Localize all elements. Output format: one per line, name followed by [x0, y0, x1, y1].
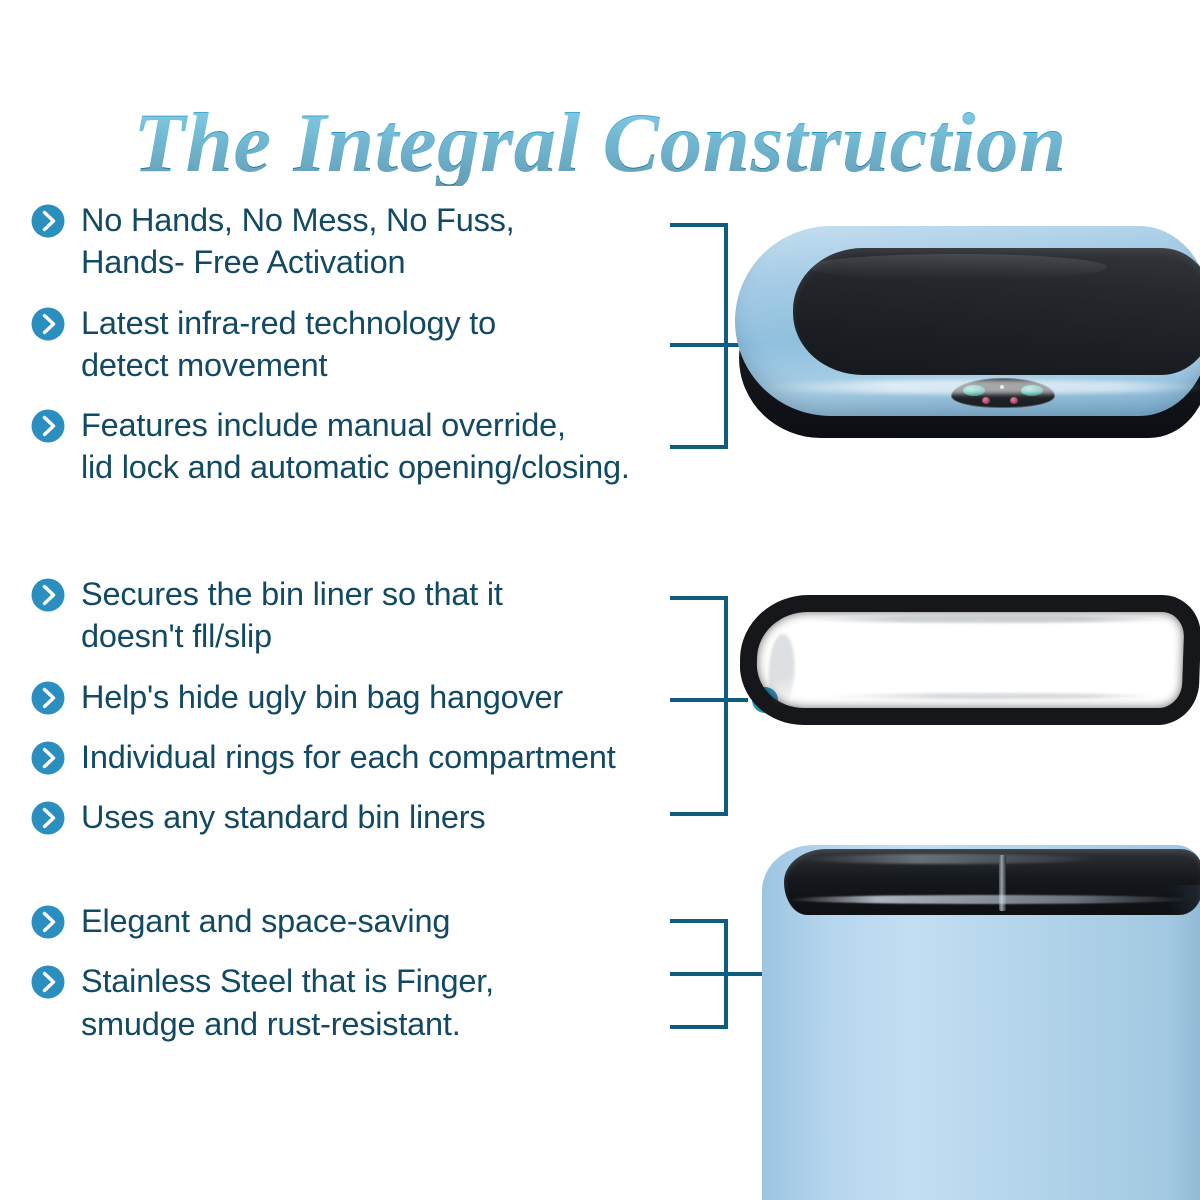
- list-item: Help's hide ugly bin bag hangover: [30, 676, 616, 718]
- list-item-label: No Hands, No Mess, No Fuss, Hands- Free …: [81, 199, 515, 284]
- list-item-label: Latest infra-red technology to detect mo…: [81, 302, 496, 387]
- list-item-label: Elegant and space-saving: [81, 900, 450, 942]
- ring-highlight-left: [767, 634, 796, 706]
- list-item: Uses any standard bin liners: [30, 796, 616, 838]
- list-item: Features include manual override, lid lo…: [30, 404, 630, 489]
- chevron-circle-icon: [30, 680, 66, 716]
- list-item-label: Features include manual override, lid lo…: [81, 404, 630, 489]
- lid-outer-shell: [735, 226, 1200, 416]
- chevron-circle-icon: [30, 306, 66, 342]
- chevron-circle-icon: [30, 203, 66, 239]
- bin-edge-shadow: [1168, 885, 1200, 1200]
- page-title: The Integral Construction: [133, 101, 1067, 186]
- list-item-label: Stainless Steel that is Finger, smudge a…: [81, 960, 494, 1045]
- ring-highlight-bottom: [826, 693, 1156, 699]
- ring-highlight-top: [810, 616, 1170, 623]
- bin-outer-shell: [762, 845, 1200, 1200]
- sensor-eye-right-icon: [1021, 385, 1043, 396]
- liner-retaining-ring: [740, 595, 1200, 725]
- list-item-label: Individual rings for each compartment: [81, 736, 616, 778]
- list-item: Stainless Steel that is Finger, smudge a…: [30, 960, 494, 1045]
- feature-group-lid: No Hands, No Mess, No Fuss, Hands- Free …: [30, 199, 630, 489]
- sensor-eye-left-icon: [963, 385, 985, 396]
- chevron-circle-icon: [30, 904, 66, 940]
- list-item-label: Secures the bin liner so that it doesn't…: [81, 573, 503, 658]
- chevron-circle-icon: [30, 740, 66, 776]
- feature-group-ring: Secures the bin liner so that it doesn't…: [30, 573, 616, 838]
- sensor-pinhole-icon: [1000, 385, 1004, 389]
- bin-rim-highlight: [788, 895, 1192, 904]
- chevron-circle-icon: [30, 408, 66, 444]
- sensor-led-left-icon: [982, 397, 990, 404]
- list-item: Secures the bin liner so that it doesn't…: [30, 573, 616, 658]
- list-item: Elegant and space-saving: [30, 900, 494, 942]
- list-item: No Hands, No Mess, No Fuss, Hands- Free …: [30, 199, 630, 284]
- list-item-label: Help's hide ugly bin bag hangover: [81, 676, 563, 718]
- infrared-sensor-module: [951, 378, 1055, 408]
- feature-group-body: Elegant and space-saving Stainless Steel…: [30, 900, 494, 1045]
- list-item: Individual rings for each compartment: [30, 736, 616, 778]
- sensor-lid-photo: [735, 218, 1200, 450]
- list-item: Latest infra-red technology to detect mo…: [30, 302, 630, 387]
- chevron-circle-icon: [30, 964, 66, 1000]
- bin-body-photo: [762, 845, 1200, 1200]
- infographic-page: The Integral Construction No Hands, No M…: [0, 0, 1200, 1200]
- lid-black-panel: [793, 248, 1200, 375]
- chevron-circle-icon: [30, 800, 66, 836]
- liner-ring-photo: [740, 595, 1200, 735]
- bin-interior-opening: [784, 849, 1200, 915]
- list-item-label: Uses any standard bin liners: [81, 796, 485, 838]
- chevron-circle-icon: [30, 577, 66, 613]
- sensor-led-right-icon: [1010, 397, 1018, 404]
